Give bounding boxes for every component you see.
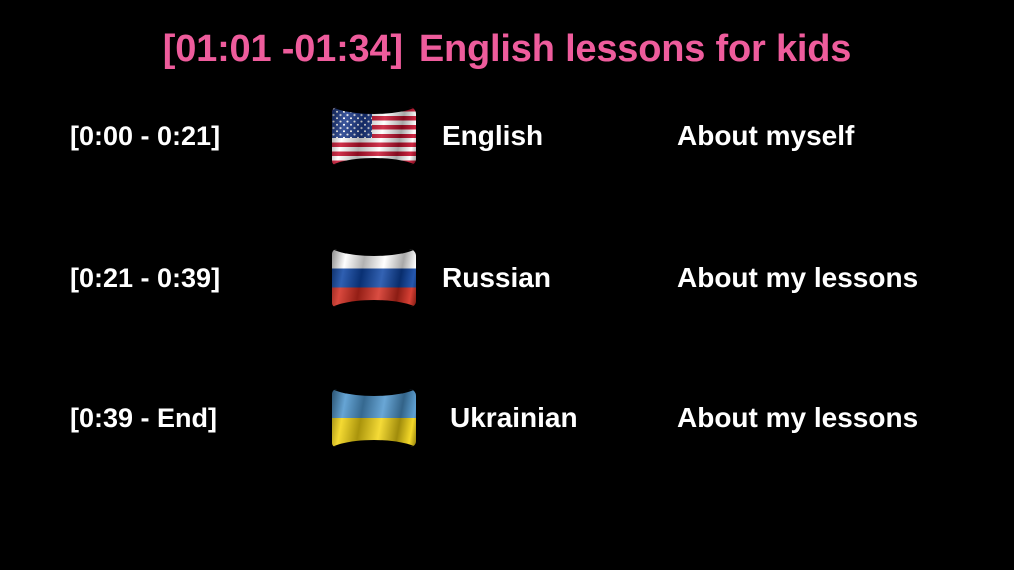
rainbow-icon-left xyxy=(117,26,163,72)
rainbow-icon-right xyxy=(851,26,897,72)
chapter-row: [0:39 - End] Ukrainian About my lessons xyxy=(0,380,1014,456)
flag-ukraine-icon xyxy=(332,389,416,447)
title-text: English lessons for kids xyxy=(419,30,851,68)
flag-russia-icon xyxy=(332,249,416,307)
chapter-flag xyxy=(332,249,418,307)
flag-united-states-icon xyxy=(332,107,416,165)
chapter-row: [0:21 - 0:39] Russian About my lessons xyxy=(0,240,1014,316)
chapter-timestamp: [0:00 - 0:21] xyxy=(70,121,220,152)
chapter-topic: About my lessons xyxy=(677,262,918,294)
chapter-row: [0:00 - 0:21] English About myself xyxy=(0,98,1014,174)
slide-title: [01:01 -01:34] English lessons for kids xyxy=(0,18,1014,80)
chapter-timestamp: [0:21 - 0:39] xyxy=(70,263,220,294)
chapter-language: Ukrainian xyxy=(450,402,578,434)
chapter-flag xyxy=(332,107,418,165)
chapter-language: Russian xyxy=(442,262,551,294)
chapter-topic: About myself xyxy=(677,120,854,152)
chapter-flag xyxy=(332,389,418,447)
chapter-topic: About my lessons xyxy=(677,402,918,434)
title-timecode: [01:01 -01:34] xyxy=(163,30,403,68)
chapter-timestamp: [0:39 - End] xyxy=(70,403,217,434)
slide-canvas: [01:01 -01:34] English lessons for kids … xyxy=(0,0,1014,570)
chapter-language: English xyxy=(442,120,543,152)
